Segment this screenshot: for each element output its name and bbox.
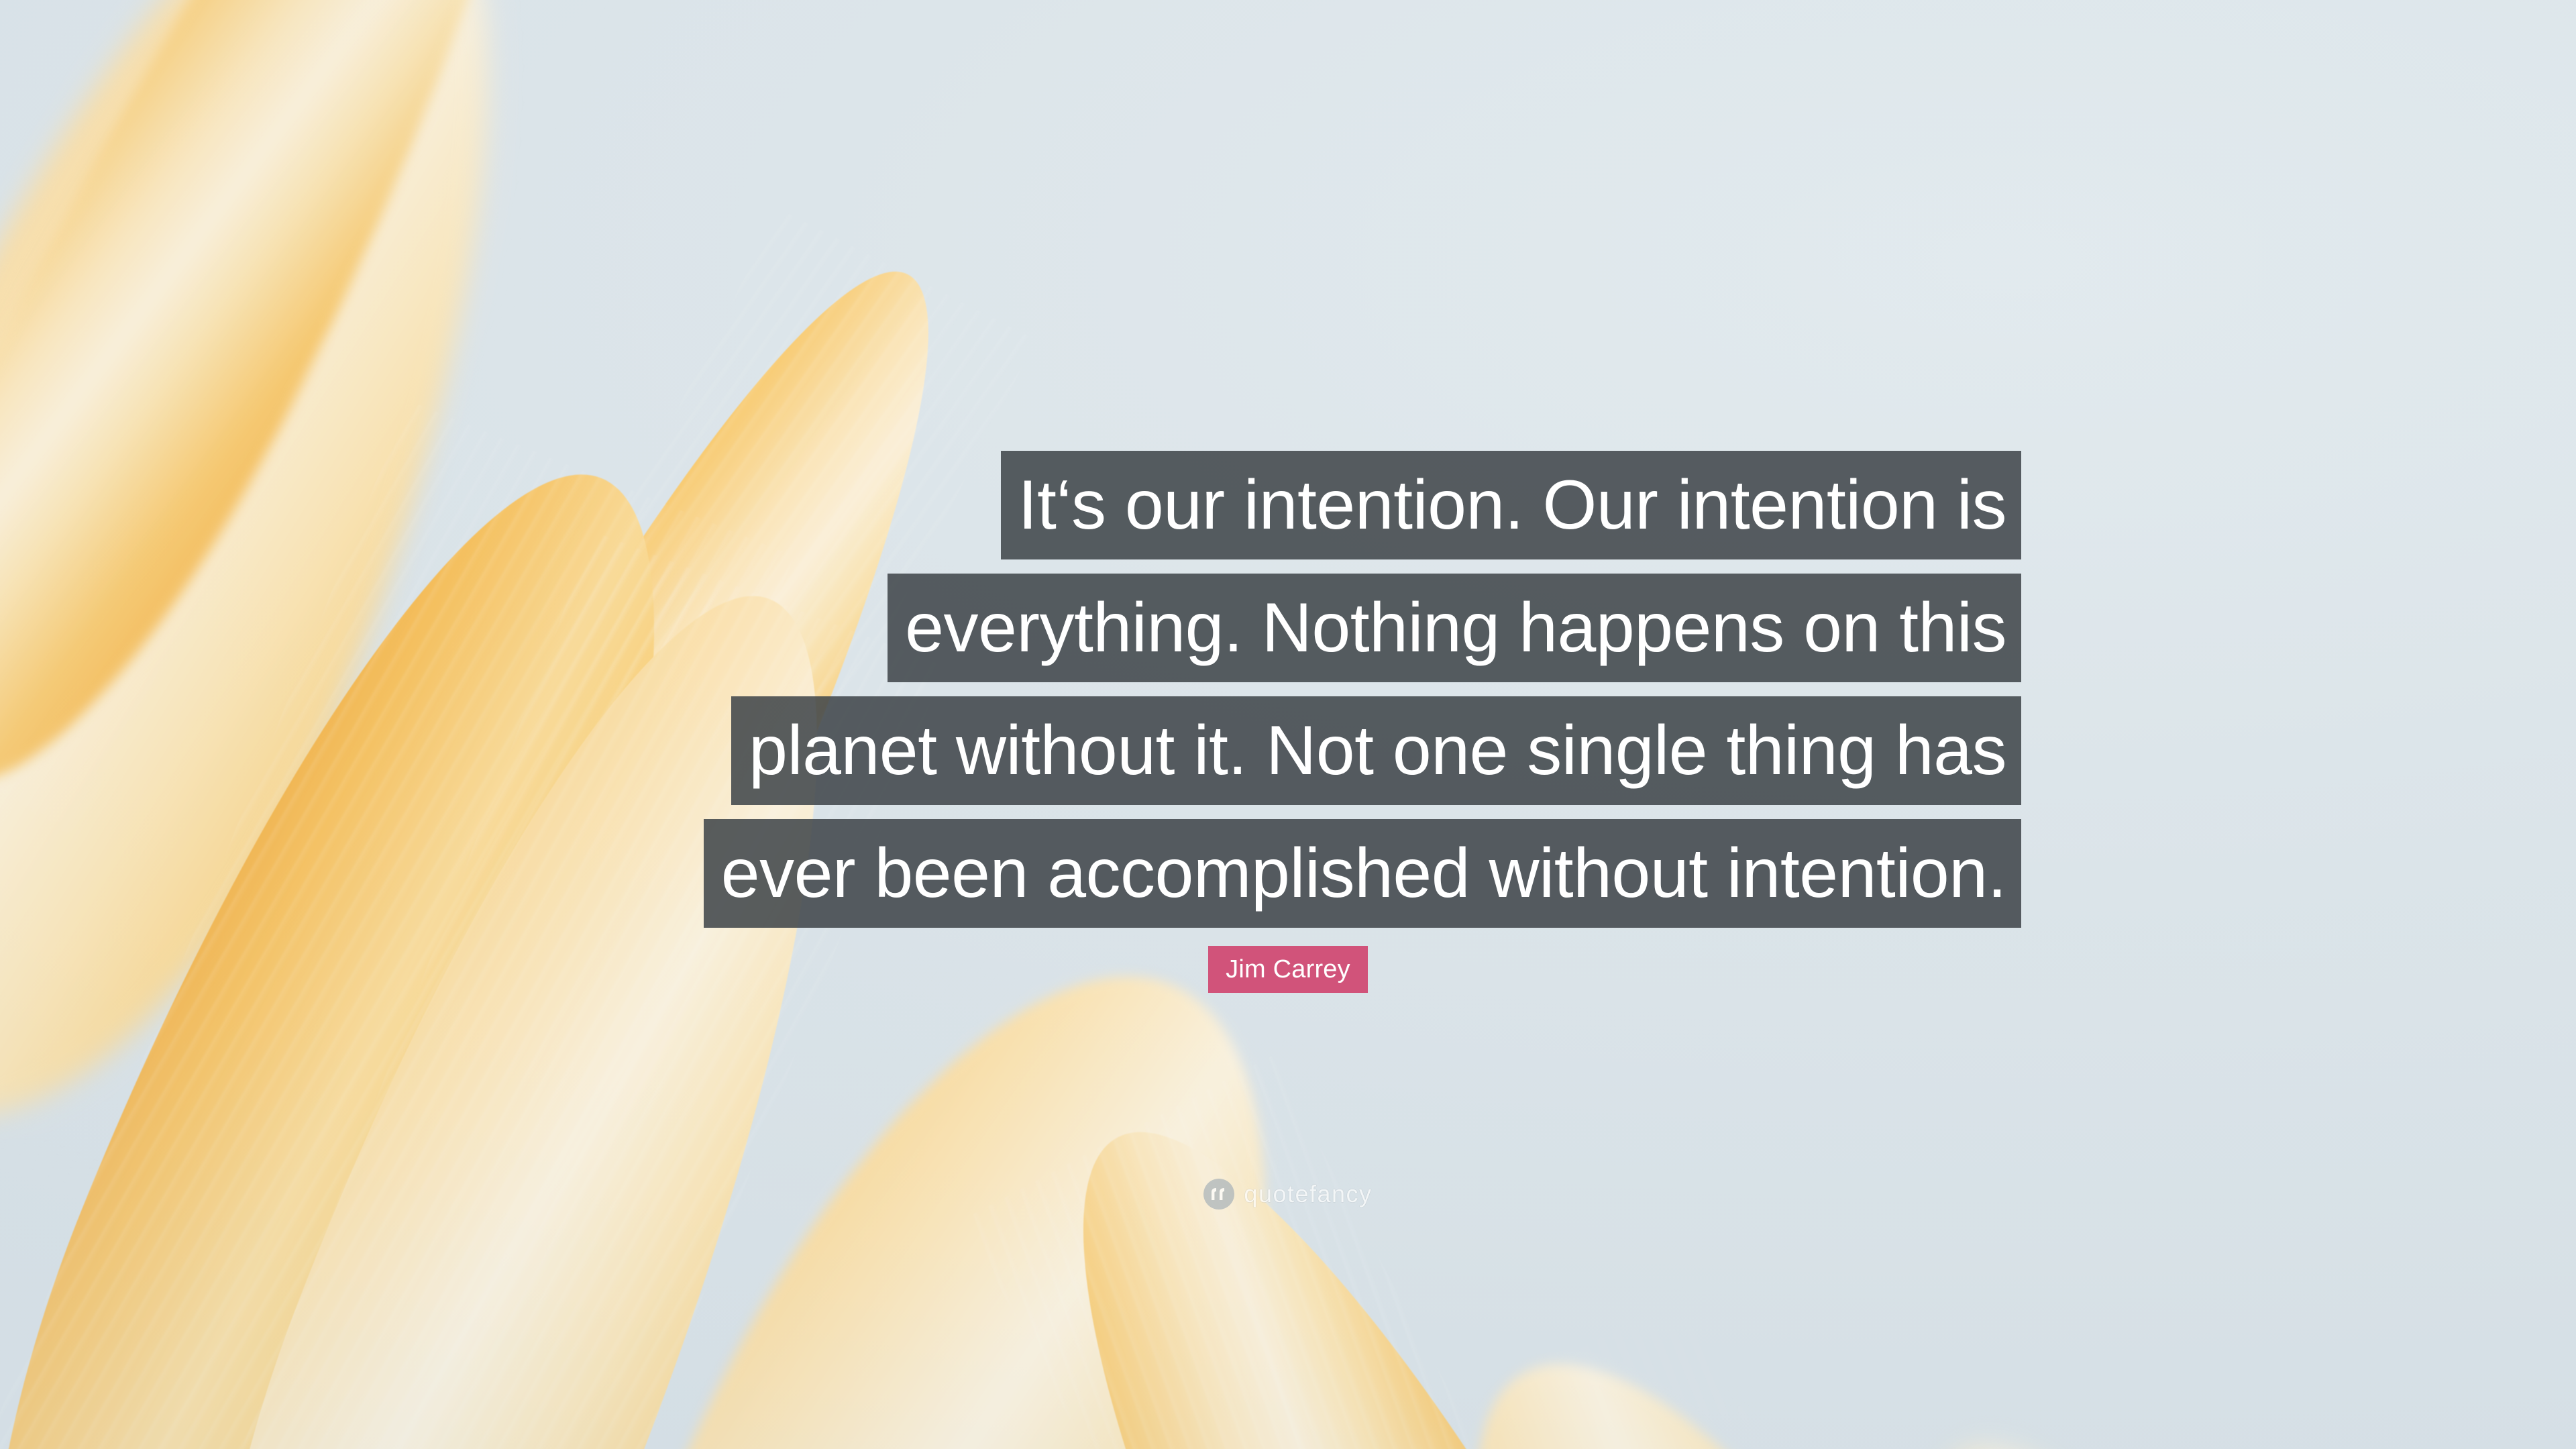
quote-row: everything. Nothing happens on this bbox=[0, 574, 2576, 682]
quote-row: planet without it. Not one single thing … bbox=[0, 696, 2576, 805]
quote-line-3: planet without it. Not one single thing … bbox=[731, 696, 2021, 805]
quote-line-1: It‘s our intention. Our intention is bbox=[1001, 451, 2021, 559]
author-badge: Jim Carrey bbox=[1208, 946, 1368, 993]
quote-row: ever been accomplished without intention… bbox=[0, 819, 2576, 928]
quote-line-2: everything. Nothing happens on this bbox=[888, 574, 2021, 682]
quote-line-4: ever been accomplished without intention… bbox=[704, 819, 2021, 928]
quote-row: It‘s our intention. Our intention is bbox=[0, 451, 2576, 559]
quote-block: It‘s our intention. Our intention is eve… bbox=[0, 451, 2576, 942]
quote-wallpaper: It‘s our intention. Our intention is eve… bbox=[0, 0, 2576, 1449]
author-row: Jim Carrey bbox=[0, 946, 2576, 993]
